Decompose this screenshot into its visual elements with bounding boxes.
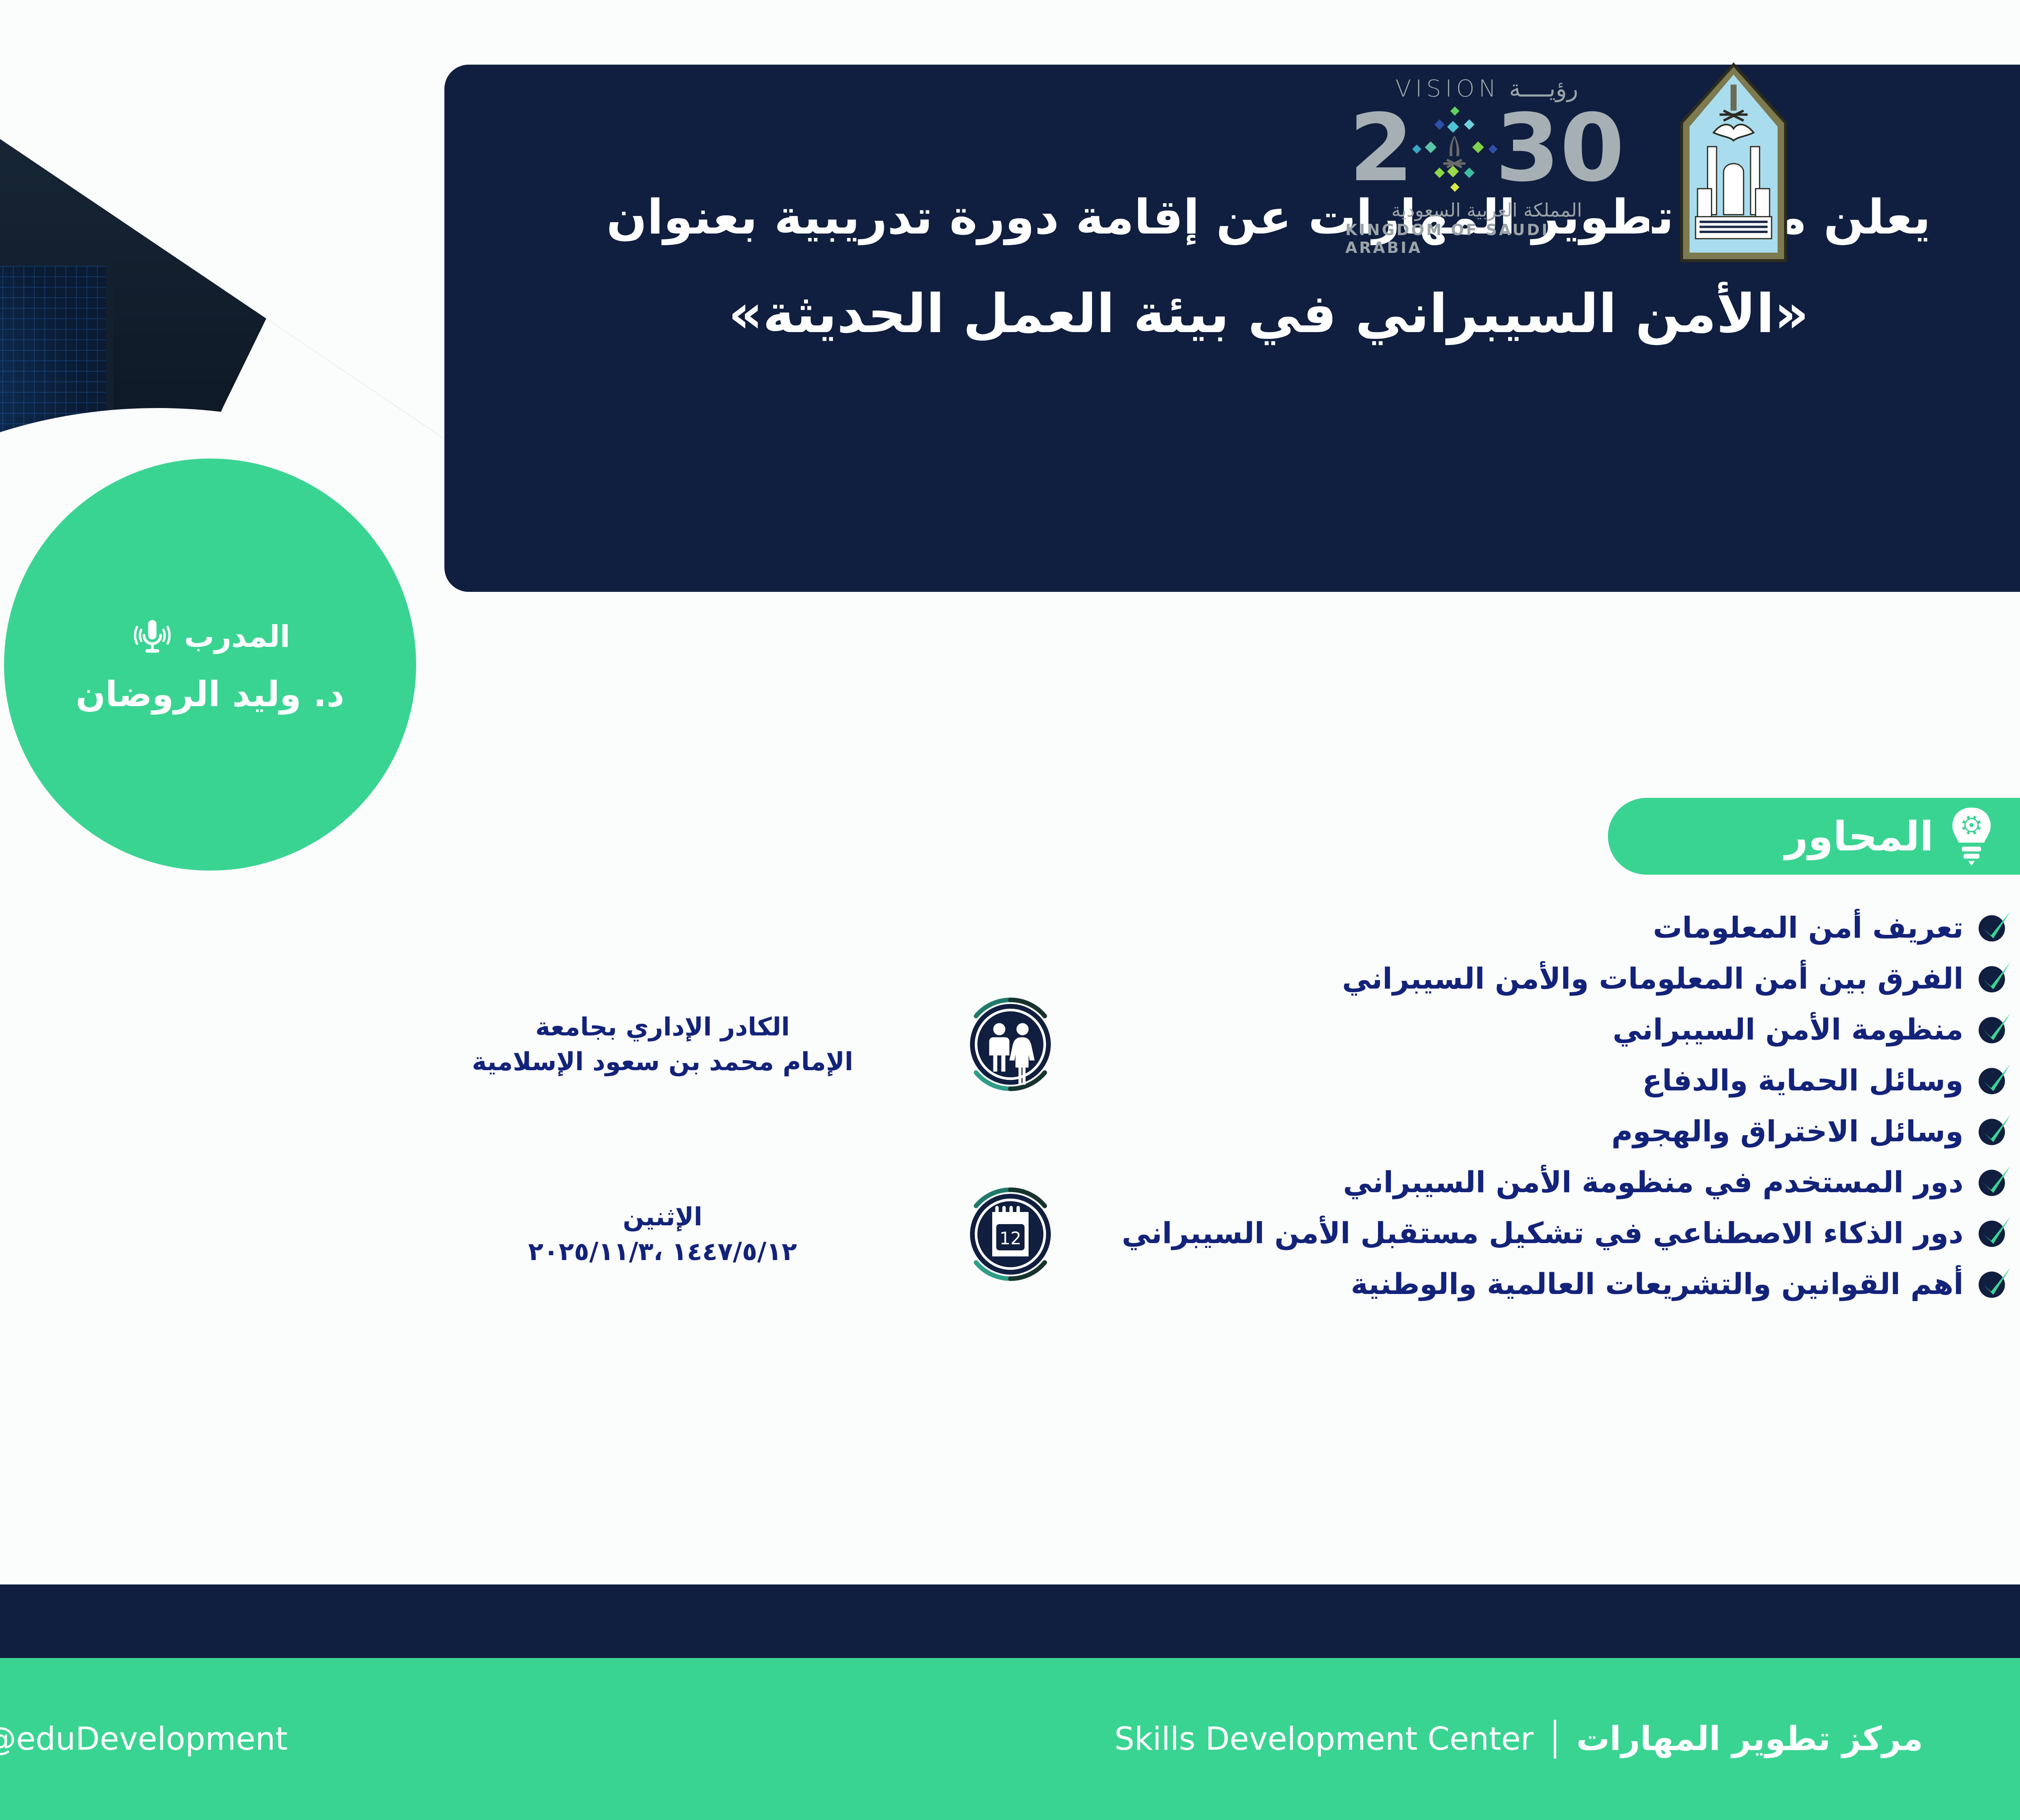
topic-item: وسائل الاختراق والهجوم [869, 1113, 2020, 1150]
poster-root: CYBER SECURITY CONFIRM click here for mo… [0, 0, 2020, 1820]
check-icon [1975, 960, 2012, 997]
detail-audience-text: الكادر الإداري بجامعة الإمام محمد بن سعو… [384, 1010, 941, 1079]
topics-badge-label: المحاور [1785, 813, 1934, 860]
vision-kingdom-english: KINGDOM OF SAUDI ARABIA [1345, 221, 1628, 257]
footer-band: dad@imamu.edu.sa @eduDevelopment Skills … [0, 1658, 2020, 1820]
brand-separator [1554, 1720, 1556, 1759]
check-icon [1975, 1164, 2012, 1201]
detail-audience: الكادر الإداري بجامعة الإمام محمد بن سعو… [384, 994, 1061, 1095]
calendar-icon: 12 [960, 1184, 1061, 1285]
navy-band [0, 1584, 2020, 1658]
vision-2030-logo: VISION رؤيــــة 2 [1345, 75, 1628, 257]
announcement-line-2: «الأمن السيبراني في بيئة العمل الحديثة» [578, 283, 1959, 345]
topic-label: وسائل الاختراق والهجوم [1612, 1114, 1963, 1148]
university-shield-icon [1673, 61, 1794, 271]
topic-label: أهم القوانين والتشريعات العالمية والوطني… [1351, 1267, 1964, 1301]
topic-label: منظومة الأمن السيبراني [1613, 1012, 1963, 1046]
check-icon [1975, 1011, 2012, 1048]
calendar-day-number: 12 [999, 1229, 1021, 1249]
footer-brand: Skills Development Center مركز تطوير الم… [1114, 1720, 1923, 1759]
trainer-badge: المدرب د. وليد الروضان [4, 459, 416, 871]
logo-group: VISION رؤيــــة 2 [1345, 61, 1794, 271]
topic-item: تعريف أمن المعلومات [869, 909, 2020, 946]
detail-date: 12 الإثنين ١٤٤٧/٥/١٢ ،٢٠٢٥/١١/٣ [384, 1184, 1061, 1285]
microphone-icon [130, 614, 175, 659]
footer-x-text: @eduDevelopment [0, 1721, 288, 1757]
trainer-name: د. وليد الروضان [76, 674, 345, 715]
topic-label: دور الذكاء الاصطناعي في تشكيل مستقبل الأ… [1122, 1216, 1963, 1250]
topic-label: وسائل الحماية والدفاع [1642, 1063, 1963, 1097]
logo-divider [1649, 79, 1652, 252]
topic-label: الفرق بين أمن المعلومات والأمن السيبراني [1342, 962, 1963, 995]
check-icon [1975, 1113, 2012, 1150]
topics-badge: المحاور [1608, 798, 2020, 875]
check-icon [1975, 909, 2012, 946]
check-icon [1975, 1265, 2012, 1302]
topic-label: دور المستخدم في منظومة الأمن السيبراني [1343, 1165, 1963, 1199]
footer-x-handle[interactable]: @eduDevelopment [0, 1720, 288, 1759]
check-icon [1975, 1062, 2012, 1099]
topic-item: الفرق بين أمن المعلومات والأمن السيبراني [869, 960, 2020, 997]
brand-name-english: Skills Development Center [1114, 1721, 1534, 1757]
people-icon [960, 994, 1061, 1095]
check-icon [1975, 1214, 2012, 1252]
topic-label: تعريف أمن المعلومات [1653, 911, 1963, 945]
trainer-role-label: المدرب [184, 619, 290, 654]
vision-year: 2 [1345, 102, 1628, 195]
vision-palm-emblem-icon [1408, 102, 1501, 195]
brand-name-arabic: مركز تطوير المهارات [1576, 1720, 1923, 1758]
detail-date-text: الإثنين ١٤٤٧/٥/١٢ ،٢٠٢٥/١١/٣ [384, 1199, 941, 1269]
vision-kingdom-arabic: المملكة العربية السعودية [1391, 199, 1582, 221]
lightbulb-gear-icon [1947, 806, 1996, 867]
